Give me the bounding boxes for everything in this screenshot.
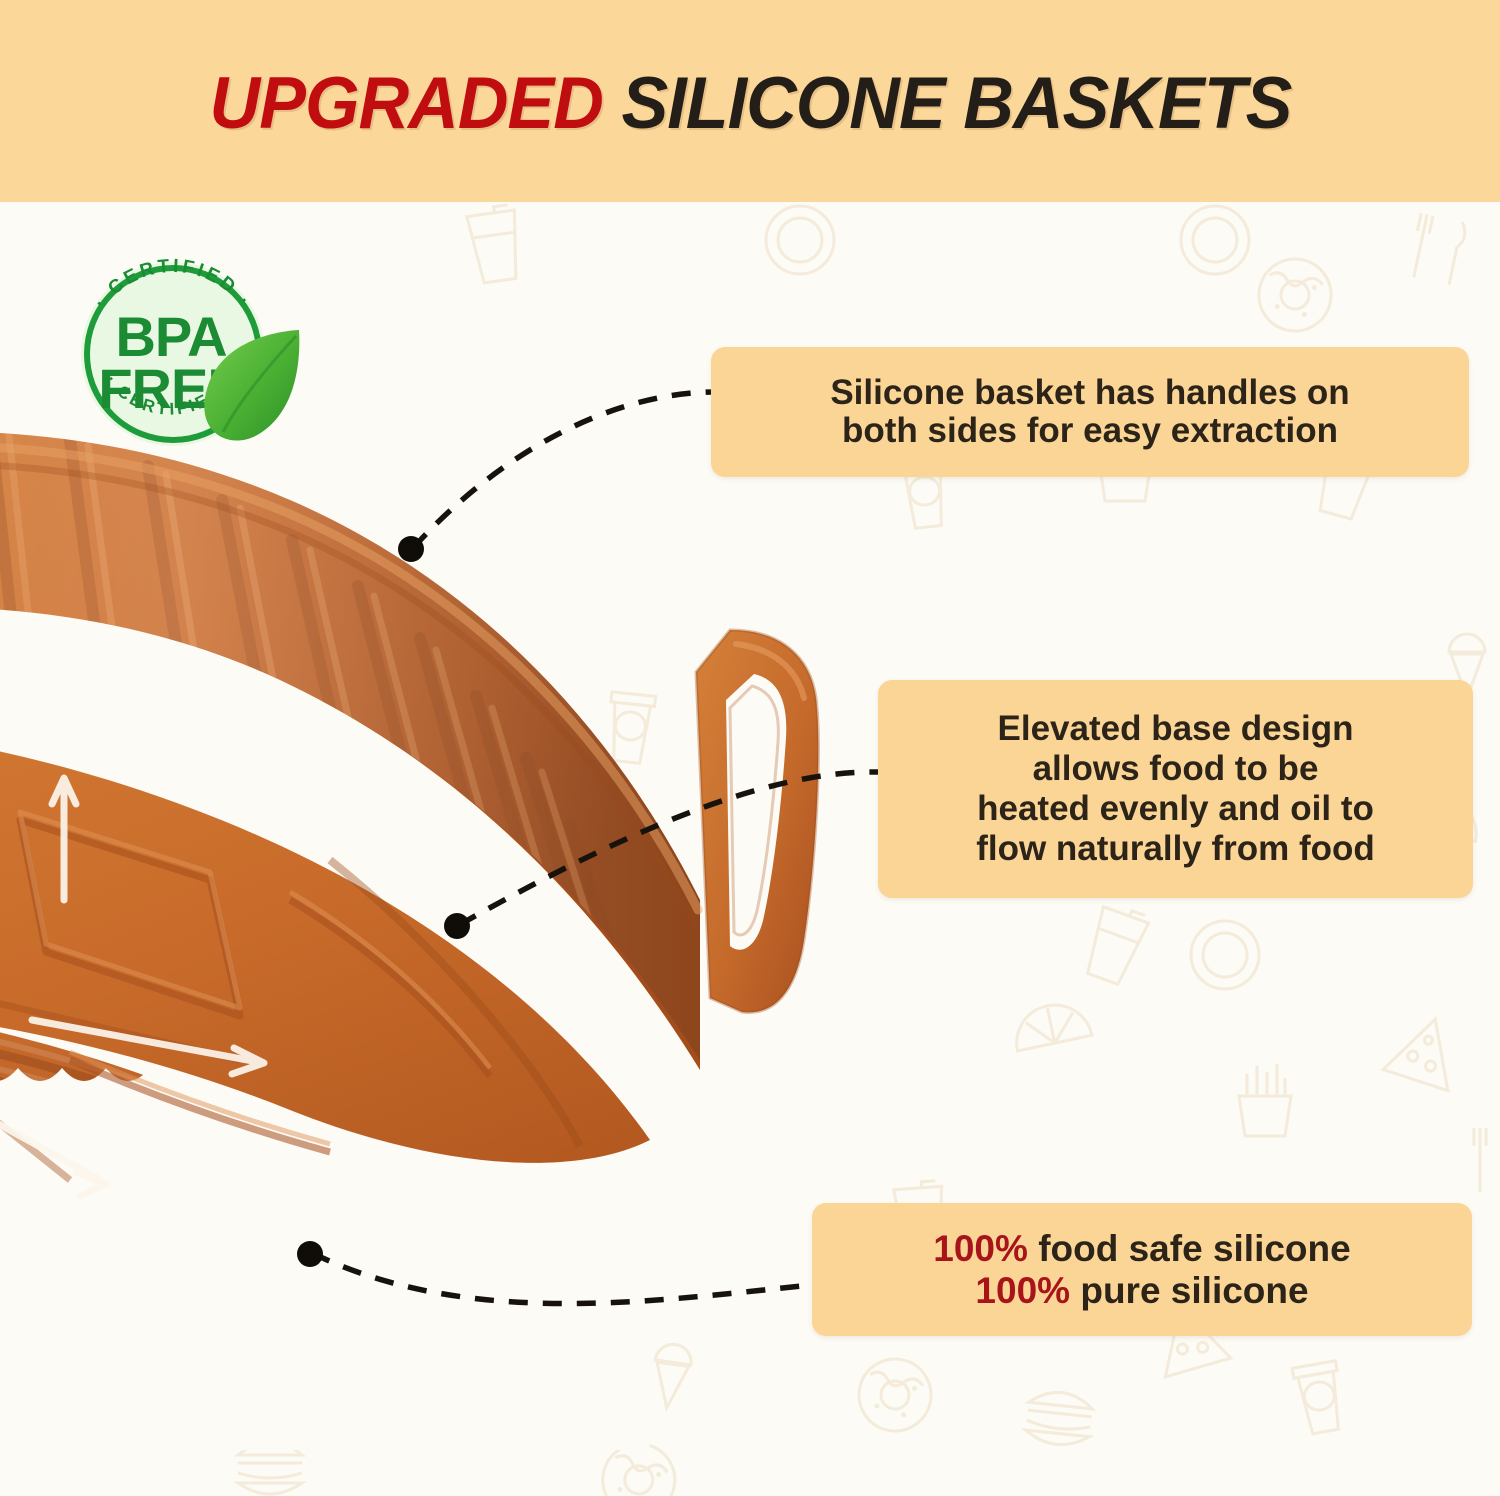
callout-elevated-line-3: heated evenly and oil to: [977, 789, 1374, 829]
callout-elevated-base: Elevated base design allows food to be h…: [878, 680, 1473, 898]
callout-elevated-line-1: Elevated base design: [998, 709, 1354, 749]
callout-food-safe-rest-2: pure silicone: [1070, 1270, 1309, 1311]
basket-handle: [696, 630, 818, 1012]
callout-food-safe-line-2: 100% pure silicone: [975, 1270, 1308, 1311]
title-accent-word: UPGRADED: [209, 63, 602, 144]
title-main-words: SILICONE BASKETS: [621, 63, 1291, 144]
callout-handles: Silicone basket has handles on both side…: [711, 347, 1469, 477]
callout-handles-line-2: both sides for easy extraction: [842, 412, 1338, 451]
callout-food-safe-line-1: 100% food safe silicone: [933, 1228, 1350, 1269]
callout-elevated-line-4: flow naturally from food: [976, 829, 1375, 869]
infographic-canvas: UPGRADED SILICONE BASKETS: [0, 0, 1500, 1496]
callout-food-safe-pct-2: 100%: [975, 1270, 1070, 1311]
callout-handles-line-1: Silicone basket has handles on: [830, 374, 1349, 413]
bpa-free-badge: · CERTIFIED · BPA FREE · CERTIFIED ·: [47, 236, 310, 454]
callout-elevated-line-2: allows food to be: [1033, 749, 1319, 789]
page-title: UPGRADED SILICONE BASKETS: [209, 67, 1291, 140]
callout-food-safe-rest-1: food safe silicone: [1028, 1228, 1351, 1269]
header-banner: UPGRADED SILICONE BASKETS: [0, 0, 1500, 202]
callout-food-safe: 100% food safe silicone 100% pure silico…: [812, 1203, 1472, 1336]
callout-food-safe-pct-1: 100%: [933, 1228, 1028, 1269]
